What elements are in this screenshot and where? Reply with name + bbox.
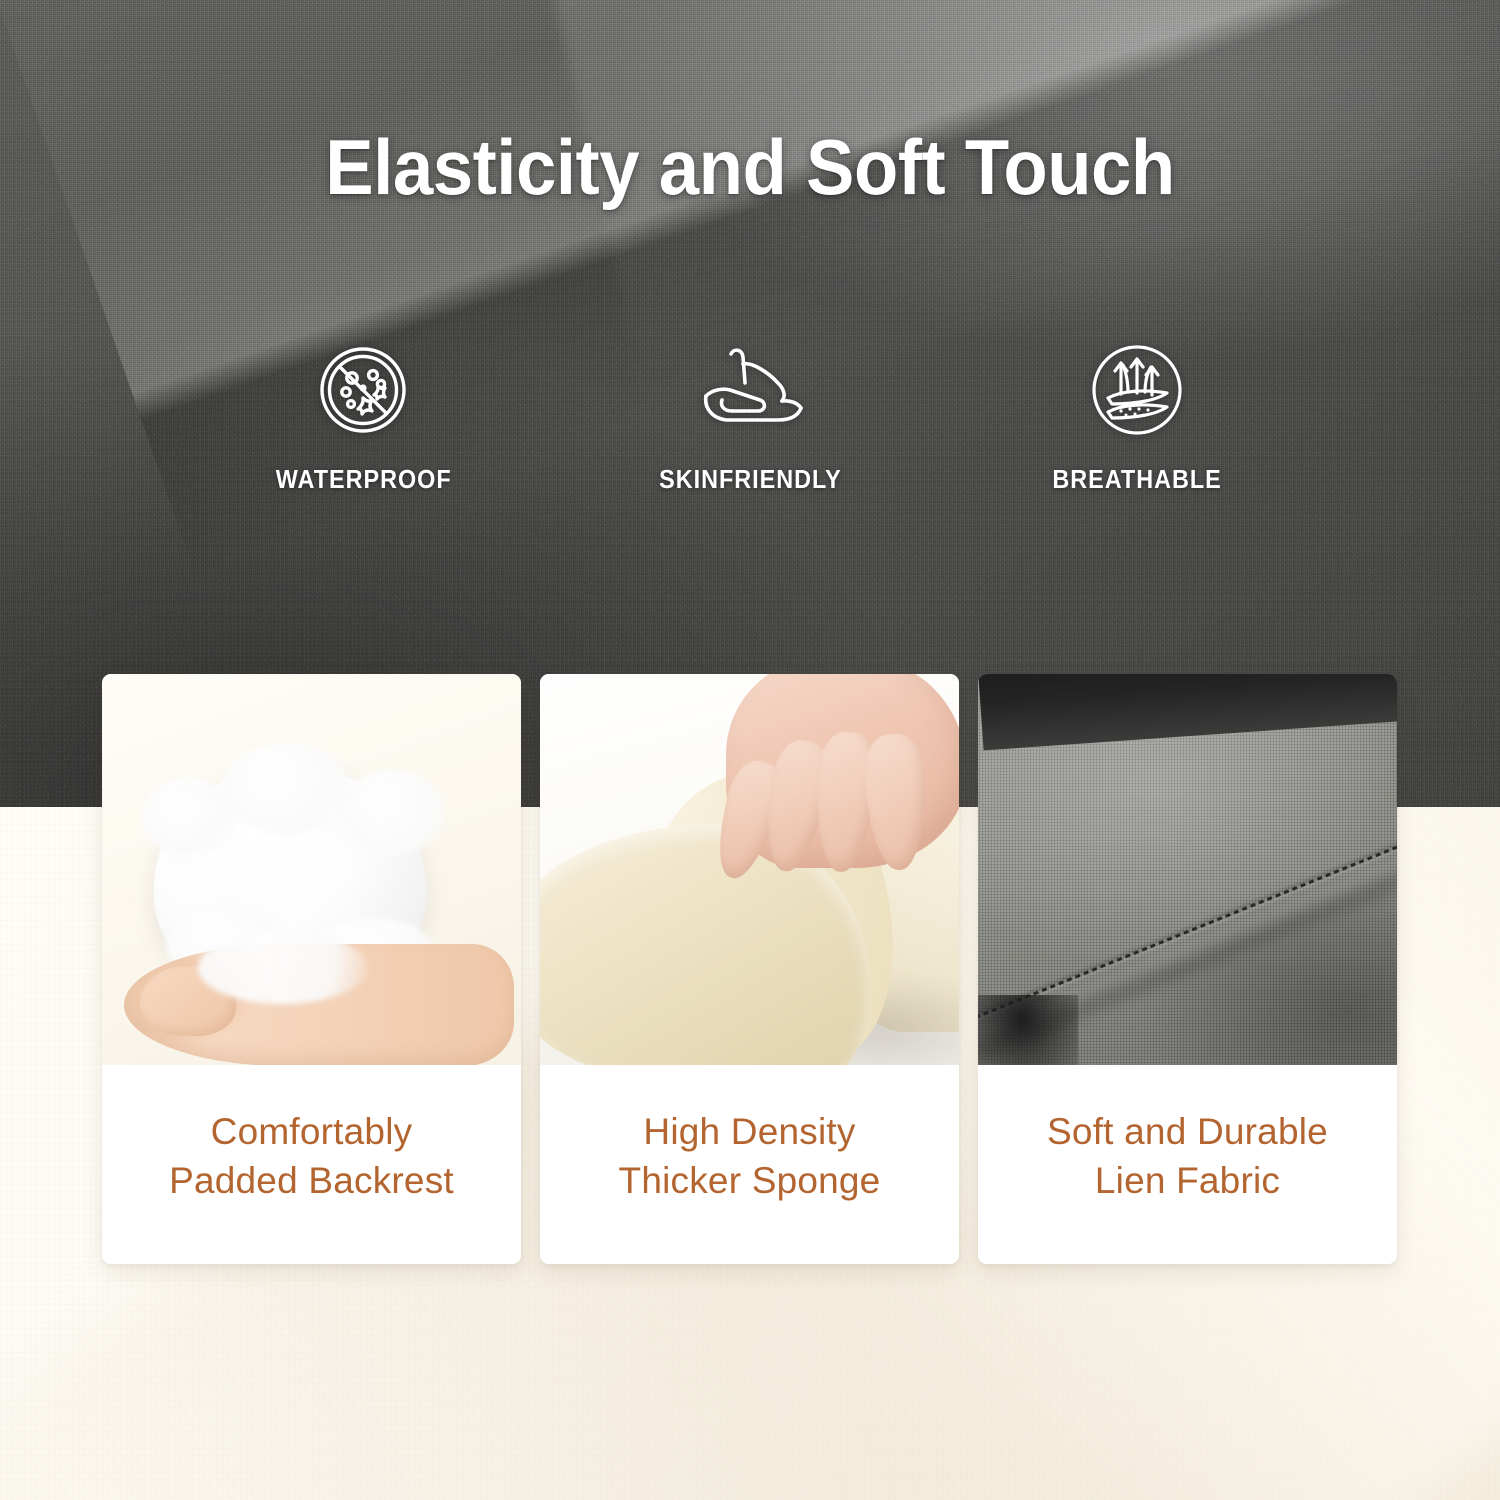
feature-label-skinfriendly: SKINFRIENDLY [659, 464, 842, 495]
card-caption-text: Soft and Durable Lien Fabric [1047, 1108, 1328, 1204]
feature-item-breathable: BREATHABLE [943, 330, 1330, 495]
page-title: Elasticity and Soft Touch [53, 128, 1448, 206]
card-caption-area: Comfortably Padded Backrest [102, 1065, 521, 1264]
feature-item-waterproof: WATERPROOF [170, 330, 557, 495]
card-caption-area: Soft and Durable Lien Fabric [978, 1065, 1397, 1264]
card-caption-text: High Density Thicker Sponge [619, 1108, 881, 1204]
feature-icon-row: WATERPROOF SKINFRIENDLY [170, 330, 1330, 520]
breathable-layers-icon [1081, 330, 1193, 450]
card-image-hand-holding-fiberfill-ball [102, 674, 521, 1065]
card-image-hand-bending-foam-sponge [540, 674, 959, 1065]
feature-item-skinfriendly: SKINFRIENDLY [557, 330, 944, 495]
feature-label-breathable: BREATHABLE [1052, 464, 1221, 495]
card-caption-text: Comfortably Padded Backrest [169, 1108, 454, 1204]
card-image-grey-linen-cushion [978, 674, 1397, 1065]
feature-card-lien-fabric[interactable]: Soft and Durable Lien Fabric [978, 674, 1397, 1264]
feature-card-thicker-sponge[interactable]: High Density Thicker Sponge [540, 674, 959, 1264]
feature-card-padded-backrest[interactable]: Comfortably Padded Backrest [102, 674, 521, 1264]
no-bacteria-icon [310, 330, 416, 450]
hand-touch-fabric-icon [686, 330, 814, 450]
feature-card-row: Comfortably Padded Backrest [102, 674, 1398, 1264]
product-feature-infographic: Elasticity and Soft Touch WA [0, 0, 1500, 1500]
card-caption-area: High Density Thicker Sponge [540, 1065, 959, 1264]
feature-label-waterproof: WATERPROOF [275, 464, 451, 495]
